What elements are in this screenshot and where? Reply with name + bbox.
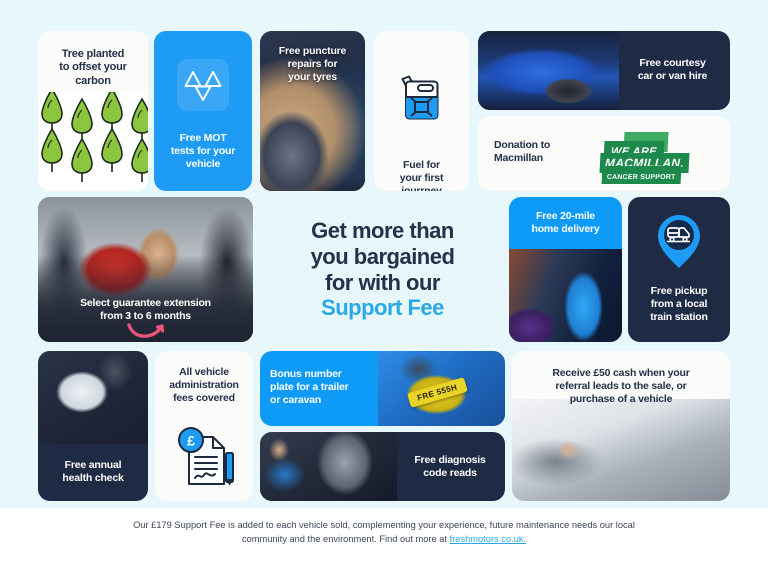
card-puncture-repairs[interactable]: Free puncture repairs for your tyres (260, 31, 365, 191)
card-title-pickup: Free pickup from a local train station (628, 285, 730, 323)
tree-pattern-graphic (38, 92, 148, 191)
card-referral-cash[interactable]: Receive £50 cash when your referral lead… (512, 351, 730, 501)
card-title-tree: Tree planted to offset your carbon (38, 48, 148, 88)
headline-accent: Support Fee (311, 295, 455, 321)
headline-line-1: Get more than (311, 218, 455, 244)
card-title-delivery: Free 20-mile home delivery (509, 210, 622, 236)
pink-swoosh-arrow-icon (126, 323, 166, 339)
card-courtesy-car[interactable]: Free courtesy car or van hire (478, 31, 730, 110)
card-diagnosis-codes[interactable]: Free diagnosis code reads (260, 432, 505, 501)
blue-car-photo (478, 31, 619, 110)
diagnostic-cab-photo (260, 432, 397, 501)
card-free-mot[interactable]: Free MOT tests for your vehicle (154, 31, 252, 191)
card-macmillan-donation[interactable]: Donation to Macmillan Supporting WE ARE … (478, 116, 730, 191)
home-delivery-photo (509, 249, 622, 342)
card-title-mot: Free MOT tests for your vehicle (154, 132, 252, 170)
svg-text:£: £ (187, 433, 195, 449)
card-title-courtesy: Free courtesy car or van hire (620, 57, 725, 83)
card-title-guarantee: Select guarantee extension from 3 to 6 m… (38, 297, 253, 323)
card-health-check[interactable]: Free annual health check (38, 351, 148, 501)
number-plate-photo: FRE 555H (378, 351, 505, 426)
card-title-macmillan: Donation to Macmillan (494, 139, 594, 165)
card-title-admin: All vehicle administration fees covered (155, 366, 253, 404)
card-title-diagnosis: Free diagnosis code reads (400, 454, 500, 480)
footer-link[interactable]: freshmotors.co.uk. (450, 534, 526, 544)
card-title-referral: Receive £50 cash when your referral lead… (512, 367, 730, 405)
card-title-fuel: Fuel for your first jourrney (374, 159, 469, 191)
footer-disclaimer: Our £179 Support Fee is added to each ve… (0, 518, 768, 547)
clipboard-photo (38, 351, 148, 444)
card-guarantee-extension[interactable]: Select guarantee extension from 3 to 6 m… (38, 197, 253, 342)
promo-poster: Tree planted to offset your carbon Free … (0, 0, 768, 576)
macmillan-logo: Supporting WE ARE MACMILLAN. CANCER SUPP… (598, 132, 710, 176)
mot-triangles-icon (177, 59, 229, 111)
headline-line-3: for with our (311, 270, 455, 296)
document-pound-pencil-icon: £ (175, 423, 235, 494)
card-fuel[interactable]: Fuel for your first jourrney (374, 31, 469, 191)
card-title-plate: Bonus number plate for a trailer or cara… (270, 368, 380, 406)
card-title-puncture: Free puncture repairs for your tyres (260, 45, 365, 83)
main-headline: Get more than you bargained for with our… (265, 197, 500, 342)
card-bonus-plate[interactable]: FRE 555H Bonus number plate for a traile… (260, 351, 505, 426)
card-train-pickup[interactable]: Free pickup from a local train station (628, 197, 730, 342)
number-plate-text: FRE 555H (407, 377, 467, 408)
card-home-delivery[interactable]: Free 20-mile home delivery (509, 197, 622, 342)
referral-car-photo (512, 399, 730, 501)
card-admin-fees[interactable]: All vehicle administration fees covered … (155, 351, 253, 501)
headline-line-2: you bargained (311, 244, 455, 270)
fuel-can-icon (401, 73, 443, 126)
footer-text: Our £179 Support Fee is added to each ve… (133, 520, 635, 544)
card-title-health: Free annual health check (38, 459, 148, 485)
train-map-pin-icon (656, 213, 702, 276)
card-tree-planted[interactable]: Tree planted to offset your carbon (38, 31, 148, 191)
macmillan-line3: CANCER SUPPORT (607, 174, 676, 181)
